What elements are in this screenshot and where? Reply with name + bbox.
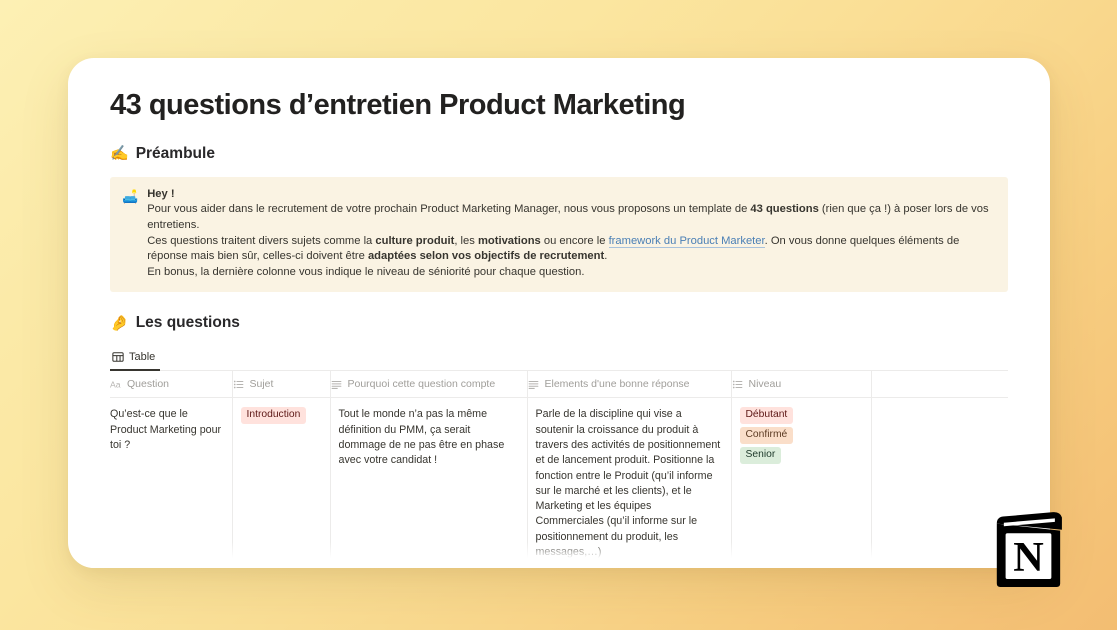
column-header-niveau[interactable]: Niveau [731, 371, 871, 398]
tab-table-label: Table [129, 351, 155, 363]
section-heading-preambule: ✍️ Préambule [110, 145, 1008, 163]
cell-elements[interactable]: Parle de la discipline qui vise a souten… [527, 398, 731, 568]
cell-niveau[interactable]: Débutant Confirmé Senior [731, 398, 871, 568]
callout-p2-e: ou encore le [541, 235, 609, 247]
column-header-niveau-label: Niveau [749, 378, 782, 390]
niveau-tag: Confirmé [740, 427, 794, 444]
callout-text: Hey ! Pour vous aider dans le recrutemen… [147, 187, 994, 281]
callout-paragraph-2: Ces questions traitent divers sujets com… [147, 234, 994, 265]
section-title-preambule: Préambule [136, 145, 215, 163]
table-header-row: Aa Question [110, 371, 1008, 398]
section-title-les-questions: Les questions [136, 314, 240, 332]
column-header-sujet[interactable]: Sujet [232, 371, 330, 398]
text-icon [528, 379, 539, 390]
table-icon [112, 351, 124, 363]
callout-p2-bold-3: adaptées selon vos objectifs de recrutem… [368, 250, 604, 262]
column-header-elements-label: Elements d'une bonne réponse [545, 378, 690, 390]
callout-lead: Hey ! [147, 187, 994, 203]
callout-p2-bold-1: culture produit [375, 235, 454, 247]
questions-table: Aa Question [110, 371, 1008, 568]
callout-p2-bold-2: motivations [478, 235, 541, 247]
page-title: 43 questions d’entretien Product Marketi… [110, 88, 1008, 123]
column-header-add[interactable] [871, 371, 1008, 398]
pinched-fingers-emoji: 🤌 [110, 316, 129, 331]
framework-link[interactable]: framework du Product Marketer [609, 235, 765, 248]
table-row[interactable]: Qu’est-ce que le Product Marketing pour … [110, 398, 1008, 568]
callout-p1-bold: 43 questions [750, 203, 818, 215]
callout-paragraph-1: Pour vous aider dans le recrutement de v… [147, 202, 994, 233]
notion-logo-letter: N [1013, 534, 1044, 581]
niveau-tag: Débutant [740, 407, 794, 424]
notion-logo: N [988, 506, 1076, 594]
section-heading-les-questions: 🤌 Les questions [110, 314, 1008, 332]
callout-p2-a: Ces questions traitent divers sujets com… [147, 235, 375, 247]
niveau-tag: Senior [740, 447, 782, 464]
callout-p2-h: . [604, 250, 607, 262]
multi-select-icon [732, 379, 743, 390]
cell-pourquoi[interactable]: Tout le monde n’a pas la même définition… [330, 398, 527, 568]
column-header-pourquoi-label: Pourquoi cette question compte [348, 378, 496, 390]
cell-question[interactable]: Qu’est-ce que le Product Marketing pour … [110, 398, 232, 568]
cell-sujet[interactable]: Introduction [232, 398, 330, 568]
callout-block: 🛋️ Hey ! Pour vous aider dans le recrute… [110, 177, 1008, 293]
database-view-tabs: Table [110, 348, 1008, 371]
svg-text:Aa: Aa [110, 380, 121, 390]
column-header-elements[interactable]: Elements d'une bonne réponse [527, 371, 731, 398]
callout-p2-c: , les [454, 235, 478, 247]
writing-hand-emoji: ✍️ [110, 146, 129, 161]
notion-page-card: 43 questions d’entretien Product Marketi… [68, 58, 1050, 568]
tab-table[interactable]: Table [110, 348, 160, 371]
column-header-question-label: Question [127, 378, 169, 390]
column-header-question[interactable]: Aa Question [110, 371, 232, 398]
column-header-sujet-label: Sujet [250, 378, 274, 390]
callout-p1-a: Pour vous aider dans le recrutement de v… [147, 203, 750, 215]
sujet-tag: Introduction [241, 407, 307, 424]
column-header-pourquoi[interactable]: Pourquoi cette question compte [330, 371, 527, 398]
text-title-icon: Aa [110, 379, 121, 390]
select-icon [233, 379, 244, 390]
text-icon [331, 379, 342, 390]
couch-emoji: 🛋️ [122, 188, 138, 205]
callout-paragraph-3: En bonus, la dernière colonne vous indiq… [147, 265, 994, 281]
